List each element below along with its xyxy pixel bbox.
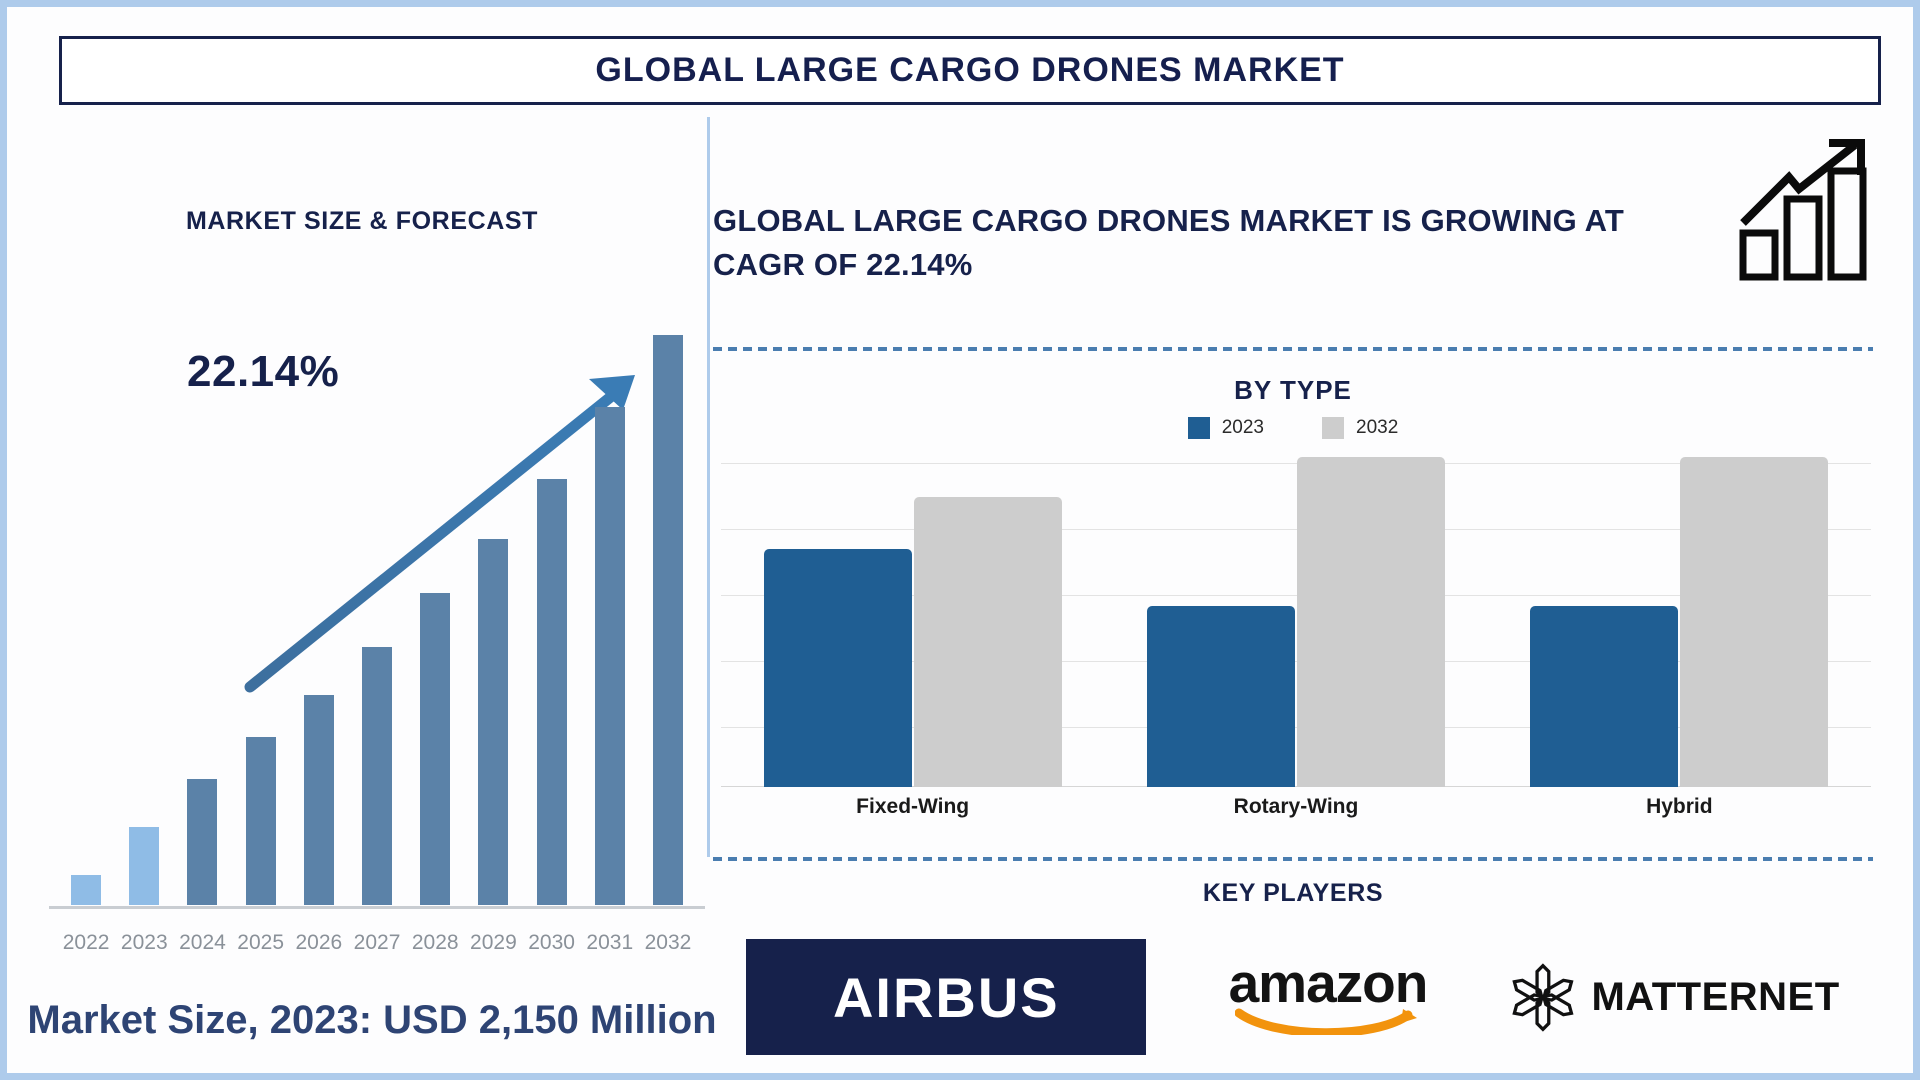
amazon-smile-icon bbox=[1235, 1005, 1420, 1035]
category-label-hybrid: Hybrid bbox=[1488, 795, 1871, 819]
year-label: 2025 bbox=[232, 931, 290, 955]
legend-swatch-2023 bbox=[1188, 417, 1210, 439]
market-size-forecast-label: MARKET SIZE & FORECAST bbox=[17, 207, 707, 236]
year-label: 2022 bbox=[57, 931, 115, 955]
page-title: GLOBAL LARGE CARGO DRONES MARKET bbox=[595, 51, 1344, 90]
x-axis-line bbox=[49, 906, 705, 909]
bar-column bbox=[115, 305, 173, 905]
legend-label-2032: 2032 bbox=[1356, 417, 1398, 439]
amazon-logo-text: amazon bbox=[1229, 959, 1428, 1009]
forecast-bars bbox=[57, 305, 697, 905]
by-type-category-labels: Fixed-Wing Rotary-Wing Hybrid bbox=[721, 795, 1871, 819]
year-label: 2024 bbox=[173, 931, 231, 955]
bar-column bbox=[406, 305, 464, 905]
bar-column bbox=[232, 305, 290, 905]
bar-hybrid-2023 bbox=[1530, 606, 1678, 788]
by-type-legend: 2023 2032 bbox=[713, 417, 1873, 439]
page-title-box: GLOBAL LARGE CARGO DRONES MARKET bbox=[59, 36, 1881, 105]
bar-2032 bbox=[653, 335, 683, 905]
year-label: 2029 bbox=[464, 931, 522, 955]
year-label: 2032 bbox=[639, 931, 697, 955]
bar-2027 bbox=[362, 647, 392, 905]
group-fixed-wing bbox=[721, 457, 1104, 787]
bar-rotary-wing-2023 bbox=[1147, 606, 1295, 788]
group-rotary-wing bbox=[1104, 457, 1487, 787]
bar-column bbox=[464, 305, 522, 905]
details-panel: GLOBAL LARGE CARGO DRONES MARKET IS GROW… bbox=[713, 117, 1913, 1067]
market-size-panel: MARKET SIZE & FORECAST 22.14% bbox=[17, 117, 707, 1067]
market-size-2023-note: Market Size, 2023: USD 2,150 Million bbox=[27, 997, 717, 1044]
legend-item-2032: 2032 bbox=[1322, 417, 1398, 439]
matternet-logo-text: MATTERNET bbox=[1591, 975, 1839, 1020]
bar-column bbox=[57, 305, 115, 905]
bar-2022 bbox=[71, 875, 101, 905]
bar-column bbox=[173, 305, 231, 905]
bar-2031 bbox=[595, 407, 625, 905]
bar-2023 bbox=[129, 827, 159, 905]
cagr-headline: GLOBAL LARGE CARGO DRONES MARKET IS GROW… bbox=[713, 199, 1653, 287]
bar-column bbox=[639, 305, 697, 905]
airbus-logo-text: AIRBUS bbox=[833, 965, 1060, 1030]
by-type-chart bbox=[721, 457, 1871, 787]
group-hybrid bbox=[1488, 457, 1871, 787]
bar-rotary-wing-2032 bbox=[1297, 457, 1445, 787]
bar-2029 bbox=[478, 539, 508, 905]
airbus-logo: AIRBUS bbox=[746, 939, 1146, 1055]
year-label: 2030 bbox=[523, 931, 581, 955]
bar-groups bbox=[721, 457, 1871, 787]
divider-top bbox=[713, 347, 1873, 351]
bar-hybrid-2032 bbox=[1680, 457, 1828, 787]
year-label: 2031 bbox=[581, 931, 639, 955]
year-label: 2023 bbox=[115, 931, 173, 955]
year-label: 2027 bbox=[348, 931, 406, 955]
bar-2028 bbox=[420, 593, 450, 905]
legend-item-2023: 2023 bbox=[1188, 417, 1264, 439]
bar-fixed-wing-2023 bbox=[764, 549, 912, 787]
year-label: 2028 bbox=[406, 931, 464, 955]
legend-label-2023: 2023 bbox=[1222, 417, 1264, 439]
market-size-forecast-chart: 2022 2023 2024 2025 2026 2027 2028 2029 … bbox=[35, 267, 703, 967]
infographic-page: GLOBAL LARGE CARGO DRONES MARKET MARKET … bbox=[0, 0, 1920, 1080]
matternet-snowflake-icon bbox=[1510, 950, 1576, 1045]
key-players-logos: AIRBUS amazon bbox=[713, 917, 1873, 1077]
key-players-title: KEY PLAYERS bbox=[713, 879, 1873, 908]
bar-column bbox=[348, 305, 406, 905]
bar-column bbox=[290, 305, 348, 905]
year-axis-labels: 2022 2023 2024 2025 2026 2027 2028 2029 … bbox=[57, 931, 697, 955]
legend-swatch-2032 bbox=[1322, 417, 1344, 439]
bar-2030 bbox=[537, 479, 567, 905]
amazon-logo: amazon bbox=[1213, 942, 1443, 1052]
bar-2025 bbox=[246, 737, 276, 905]
bar-2024 bbox=[187, 779, 217, 905]
panel-divider bbox=[707, 117, 710, 857]
matternet-logo: MATTERNET bbox=[1510, 942, 1840, 1052]
category-label-rotary-wing: Rotary-Wing bbox=[1104, 795, 1487, 819]
growth-bar-chart-icon bbox=[1737, 137, 1877, 282]
by-type-title: BY TYPE bbox=[713, 375, 1873, 406]
bar-fixed-wing-2032 bbox=[914, 497, 1062, 787]
bar-column bbox=[523, 305, 581, 905]
bar-2026 bbox=[304, 695, 334, 905]
year-label: 2026 bbox=[290, 931, 348, 955]
category-label-fixed-wing: Fixed-Wing bbox=[721, 795, 1104, 819]
bar-column bbox=[581, 305, 639, 905]
divider-bottom bbox=[713, 857, 1873, 861]
